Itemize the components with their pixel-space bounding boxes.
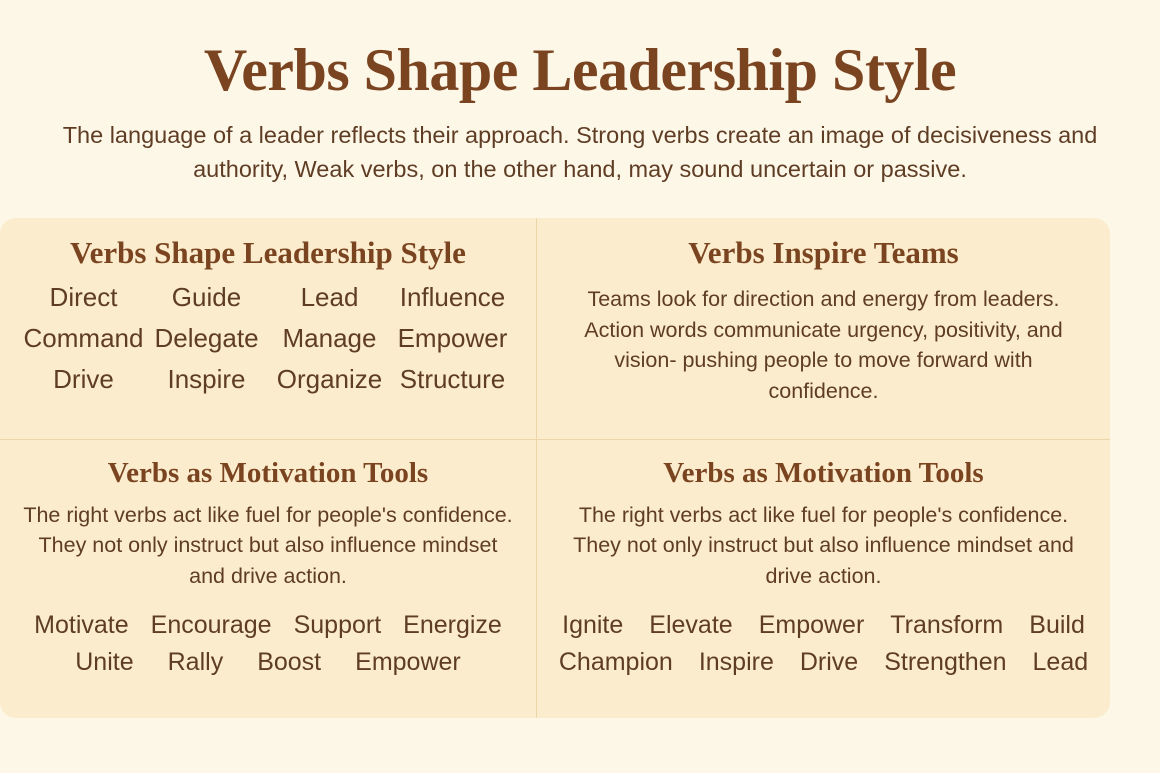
- verb-item: Delegate: [145, 323, 268, 354]
- verb-item: Empower: [355, 648, 461, 677]
- verb-item: Influence: [391, 282, 514, 313]
- verb-item: Empower: [759, 611, 865, 640]
- quadrant-top-right-body: Teams look for direction and energy from…: [559, 284, 1088, 406]
- verb-list-bottom-right: Ignite Elevate Empower Transform Build C…: [559, 611, 1088, 677]
- verb-list-bottom-left: Motivate Encourage Support Energize Unit…: [22, 611, 514, 677]
- page-title: Verbs Shape Leadership Style: [0, 40, 1160, 100]
- verb-item: Guide: [145, 282, 268, 313]
- quadrant-top-right: Verbs Inspire Teams Teams look for direc…: [537, 218, 1110, 440]
- verb-item: Lead: [1033, 648, 1089, 677]
- verb-item: Boost: [257, 648, 321, 677]
- verb-item: Strengthen: [884, 648, 1006, 677]
- verb-grid-top-left: Direct Guide Lead Influence Command Dele…: [22, 282, 514, 395]
- verb-item: Ignite: [562, 611, 623, 640]
- verb-item: Energize: [403, 611, 502, 640]
- verb-item: Champion: [559, 648, 673, 677]
- verb-item: Inspire: [699, 648, 774, 677]
- verb-item: Elevate: [649, 611, 732, 640]
- verb-row: Motivate Encourage Support Energize: [22, 611, 514, 640]
- verb-item: Encourage: [151, 611, 272, 640]
- infographic-root: Verbs Shape Leadership Style The languag…: [0, 0, 1160, 773]
- verb-item: Transform: [890, 611, 1003, 640]
- quadrant-bottom-right: Verbs as Motivation Tools The right verb…: [537, 440, 1110, 718]
- verb-item: Command: [22, 323, 145, 354]
- quadrant-bottom-right-title: Verbs as Motivation Tools: [559, 458, 1088, 490]
- header: Verbs Shape Leadership Style The languag…: [0, 0, 1160, 186]
- page-subtitle: The language of a leader reflects their …: [60, 118, 1100, 186]
- verb-item: Empower: [391, 323, 514, 354]
- verb-row: Ignite Elevate Empower Transform Build: [559, 611, 1088, 640]
- quadrant-bottom-left-title: Verbs as Motivation Tools: [22, 458, 514, 490]
- verb-item: Manage: [268, 323, 391, 354]
- quadrant-top-left: Verbs Shape Leadership Style Direct Guid…: [0, 218, 537, 440]
- verb-item: Drive: [22, 364, 145, 395]
- verb-item: Support: [294, 611, 382, 640]
- verb-row: Unite Rally Boost Empower: [22, 648, 514, 677]
- verb-item: Direct: [22, 282, 145, 313]
- verb-item: Drive: [800, 648, 858, 677]
- verb-item: Motivate: [34, 611, 128, 640]
- quadrant-top-left-title: Verbs Shape Leadership Style: [22, 236, 514, 270]
- verb-item: Organize: [268, 364, 391, 395]
- verb-item: Lead: [268, 282, 391, 313]
- verb-row: Champion Inspire Drive Strengthen Lead: [559, 648, 1088, 677]
- quadrant-panel: Verbs Shape Leadership Style Direct Guid…: [0, 218, 1110, 718]
- quadrant-bottom-left: Verbs as Motivation Tools The right verb…: [0, 440, 537, 718]
- quadrant-bottom-right-body: The right verbs act like fuel for people…: [559, 500, 1088, 592]
- quadrant-bottom-left-body: The right verbs act like fuel for people…: [22, 500, 514, 592]
- verb-item: Unite: [75, 648, 133, 677]
- quadrant-top-right-title: Verbs Inspire Teams: [559, 236, 1088, 270]
- verb-item: Structure: [391, 364, 514, 395]
- verb-item: Build: [1029, 611, 1085, 640]
- verb-item: Rally: [168, 648, 224, 677]
- verb-item: Inspire: [145, 364, 268, 395]
